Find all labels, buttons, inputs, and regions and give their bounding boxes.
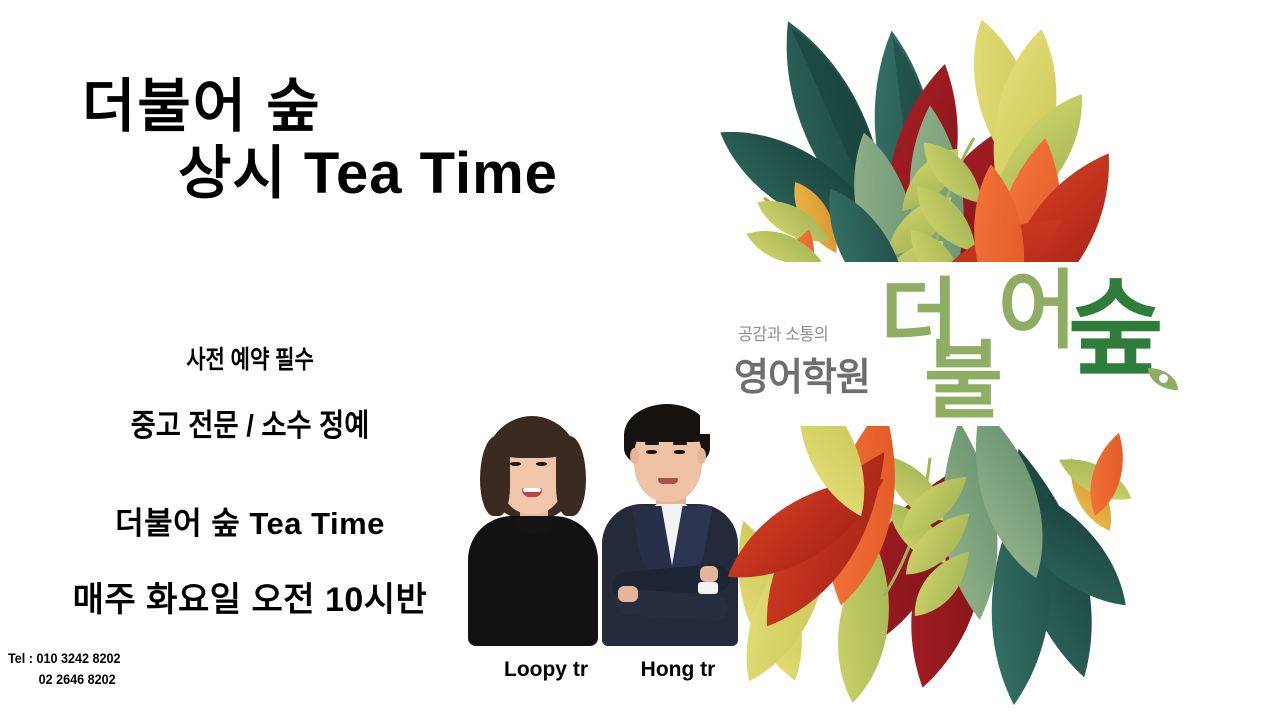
eyebrow-right bbox=[535, 454, 548, 457]
note-booking-required: 사전 예약 필수 bbox=[40, 340, 460, 376]
hand-left bbox=[618, 586, 638, 602]
logo-academy-name: 영어학원 bbox=[734, 346, 870, 401]
eyebrow-left bbox=[509, 454, 522, 457]
foliage-artwork: 공감과 소통의 영어학원 더 불 어 숲 bbox=[700, 0, 1280, 720]
logo-tagline: 공감과 소통의 bbox=[738, 320, 828, 345]
eyebrow-right bbox=[673, 442, 687, 445]
ear-left bbox=[630, 448, 639, 464]
title-line-1: 더불어 숲 bbox=[0, 78, 700, 136]
teacher-portrait-loopy bbox=[468, 408, 598, 646]
note-schedule: 매주 화요일 오전 10시반 bbox=[0, 572, 500, 621]
hair-fringe bbox=[492, 418, 572, 458]
title-line-2: 상시 Tea Time bbox=[0, 136, 700, 213]
contact-block: Tel : 010 3242 8202 02 2646 8202 bbox=[8, 648, 121, 690]
eye-right bbox=[536, 462, 547, 466]
contact-phone-mobile: Tel : 010 3242 8202 bbox=[8, 648, 121, 669]
teacher-name-loopy: Loopy tr bbox=[486, 658, 606, 682]
wordmark-char-sup: 숲 bbox=[1068, 278, 1164, 382]
mouth bbox=[658, 478, 678, 484]
wordmark-char-eo: 어 bbox=[998, 268, 1077, 354]
eyebrow-left bbox=[645, 442, 659, 445]
eye-left bbox=[510, 462, 521, 466]
page-title: 더불어 숲 상시 Tea Time bbox=[0, 78, 700, 213]
eye-right bbox=[674, 450, 685, 454]
note-program-name: 더불어 숲 Tea Time bbox=[0, 498, 500, 543]
eye-left bbox=[646, 450, 657, 454]
logo-wordmark: 더 불 어 숲 bbox=[880, 272, 1260, 422]
contact-phone-office: 02 2646 8202 bbox=[8, 669, 121, 690]
note-class-type: 중고 전문 / 소수 정예 bbox=[30, 400, 470, 445]
mouth bbox=[522, 488, 542, 497]
poster-root: 더불어 숲 상시 Tea Time 사전 예약 필수 중고 전문 / 소수 정예… bbox=[0, 0, 1280, 720]
wordmark-char-bul: 불 bbox=[924, 338, 1003, 424]
collar bbox=[516, 518, 552, 534]
